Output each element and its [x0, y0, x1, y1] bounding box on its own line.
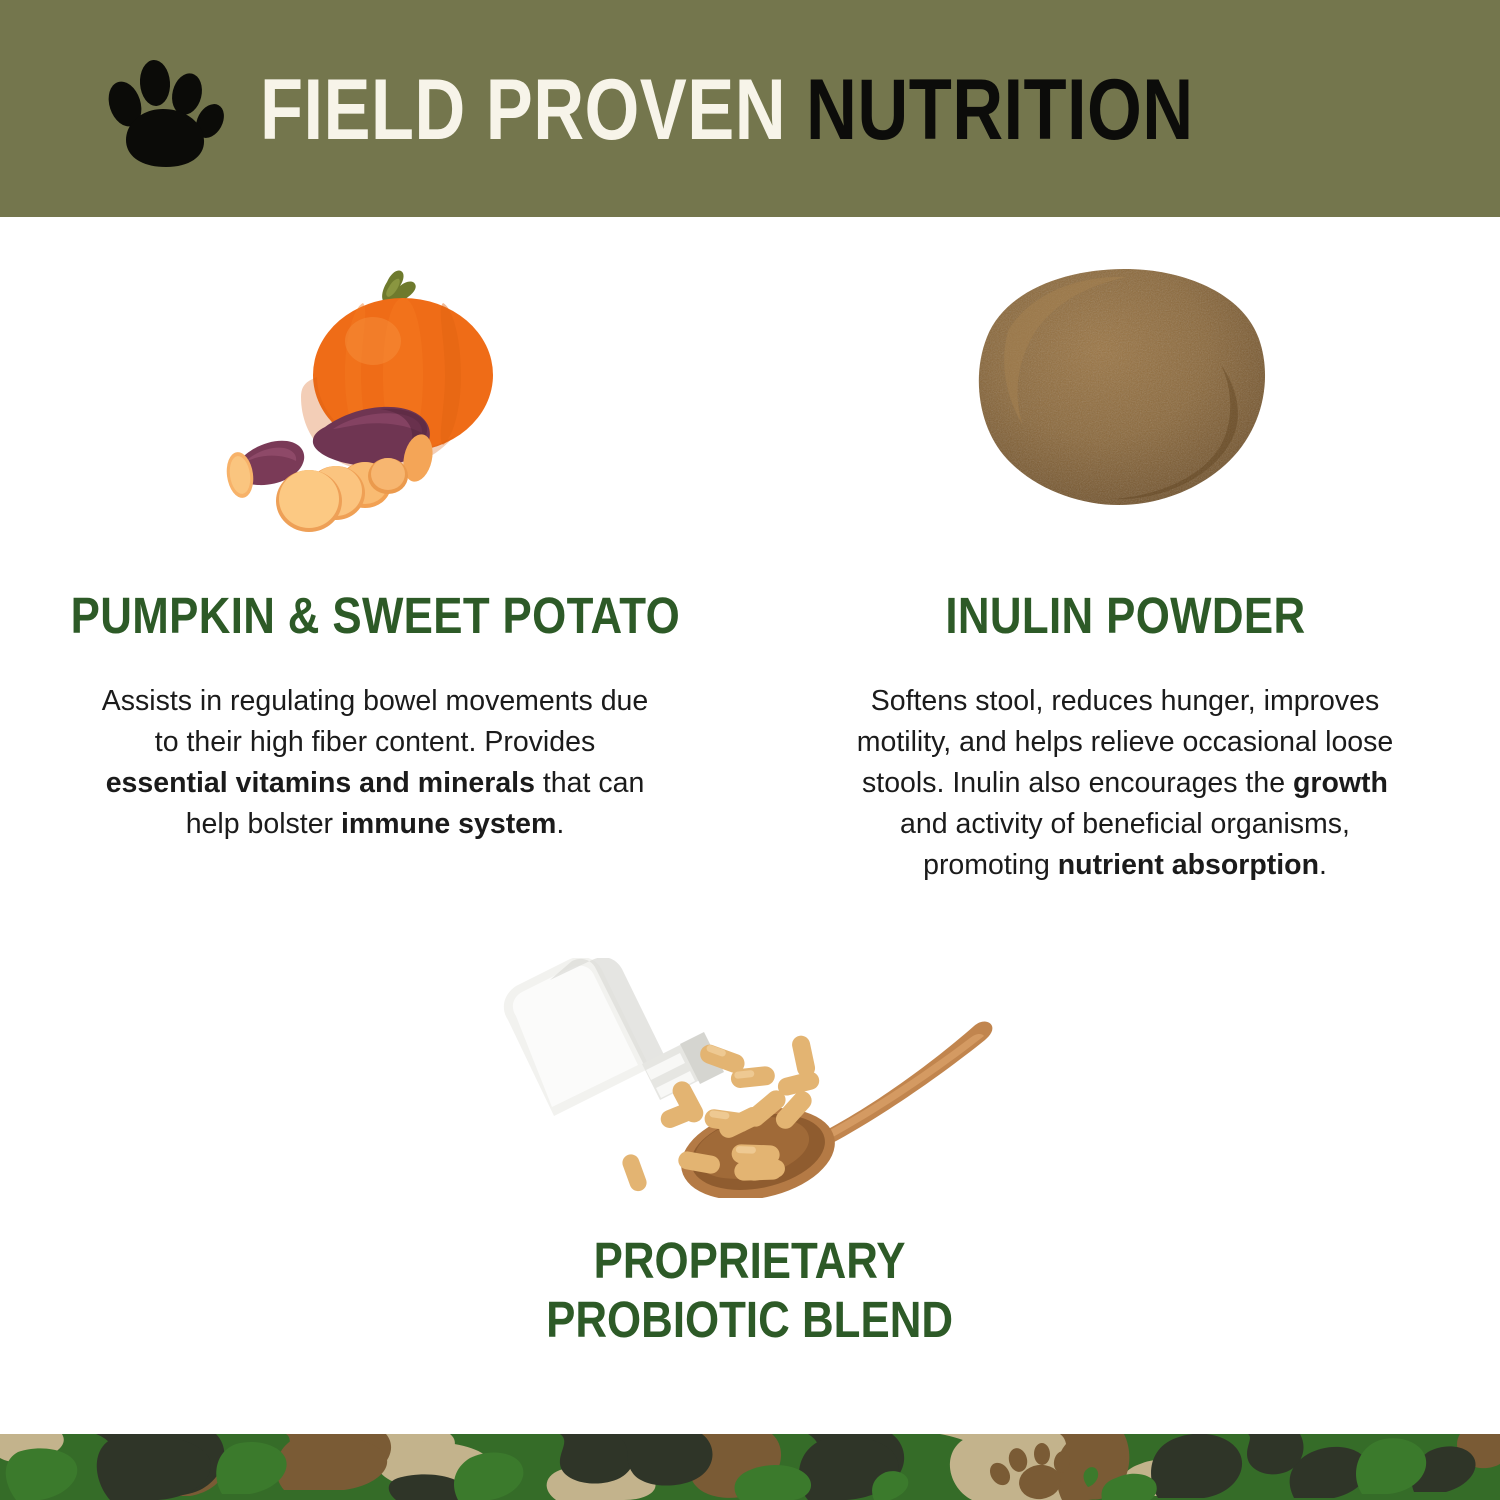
header-banner: FIELD PROVEN NUTRITION — [0, 0, 1500, 217]
infographic-page: FIELD PROVEN NUTRITION — [0, 0, 1500, 1500]
card-title-pumpkin-sweet-potato: PUMPKIN & SWEET POTATO — [70, 589, 679, 643]
ingredient-row-bottom: PROPRIETARY PROBIOTIC BLEND — [0, 948, 1500, 1349]
ingredient-cards: PUMPKIN & SWEET POTATO Assists in regula… — [0, 217, 1500, 1349]
ingredient-row-top: PUMPKIN & SWEET POTATO Assists in regula… — [0, 217, 1500, 886]
ingredient-card-inulin-powder: INULIN POWDER Softens stool, reduces hun… — [750, 217, 1500, 886]
title-light-part: FIELD PROVEN — [260, 62, 786, 158]
camouflage-footer — [0, 1434, 1500, 1500]
card-body-pumpkin-sweet-potato: Assists in regulating bowel movements du… — [95, 681, 655, 845]
ingredient-card-pumpkin-sweet-potato: PUMPKIN & SWEET POTATO Assists in regula… — [0, 217, 750, 886]
pumpkin-and-sweet-potato-image — [0, 217, 750, 547]
ingredient-card-probiotic-blend: PROPRIETARY PROBIOTIC BLEND — [300, 948, 1200, 1349]
title-dark-part: NUTRITION — [806, 62, 1194, 158]
paw-print-icon — [102, 52, 224, 170]
pill-bottle-spoon-illustration — [490, 958, 1010, 1198]
card-title-inulin-powder: INULIN POWDER — [945, 589, 1305, 643]
probiotic-title-line-2: PROBIOTIC BLEND — [547, 1291, 954, 1348]
pumpkin-sweet-potato-illustration — [205, 257, 545, 547]
probiotic-title-line-1: PROPRIETARY — [594, 1232, 906, 1289]
card-body-inulin-powder: Softens stool, reduces hunger, improves … — [835, 681, 1415, 886]
inulin-powder-illustration — [965, 257, 1285, 527]
card-title-probiotic-blend: PROPRIETARY PROBIOTIC BLEND — [547, 1232, 954, 1349]
camouflage-pattern — [0, 1434, 1500, 1500]
inulin-powder-image — [750, 217, 1500, 547]
probiotic-blend-image — [300, 948, 1200, 1198]
page-title: FIELD PROVEN NUTRITION — [260, 67, 1194, 153]
